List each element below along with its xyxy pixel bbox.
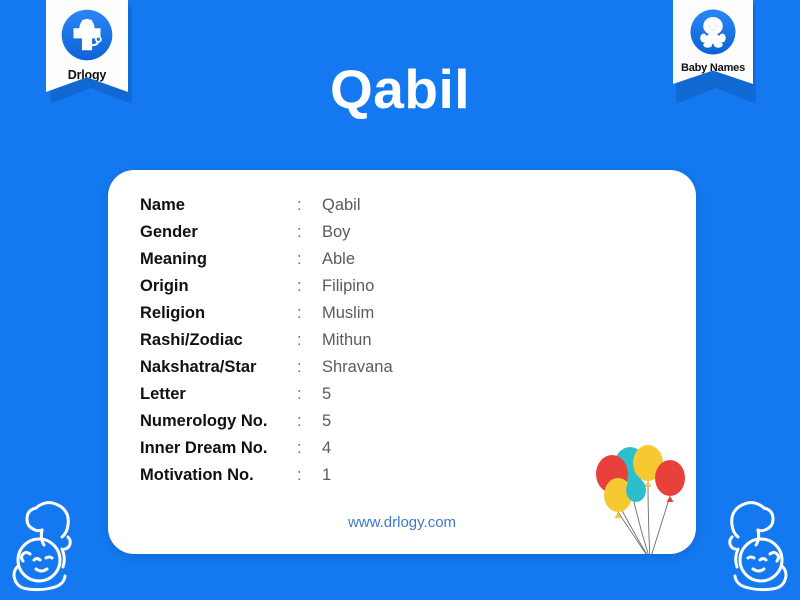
row-value: Boy <box>322 219 393 246</box>
table-row: Origin : Filipino <box>140 273 393 300</box>
poster-canvas: Drlogy <box>0 0 800 600</box>
row-colon: : <box>297 462 322 489</box>
row-colon: : <box>297 219 322 246</box>
page-title: Qabil <box>0 62 800 117</box>
drlogy-medical-cross-logo-icon <box>60 8 114 62</box>
row-colon: : <box>297 273 322 300</box>
row-label: Religion <box>140 300 297 327</box>
mother-and-baby-icon <box>698 488 794 592</box>
row-label: Meaning <box>140 246 297 273</box>
row-value: Qabil <box>322 192 393 219</box>
row-label: Numerology No. <box>140 408 297 435</box>
table-row: Letter : 5 <box>140 381 393 408</box>
row-colon: : <box>297 192 322 219</box>
row-value: Shravana <box>322 354 393 381</box>
row-value: Mithun <box>322 327 393 354</box>
row-label: Rashi/Zodiac <box>140 327 297 354</box>
row-value: 4 <box>322 435 393 462</box>
row-label: Origin <box>140 273 297 300</box>
row-label: Name <box>140 192 297 219</box>
table-row: Meaning : Able <box>140 246 393 273</box>
table-row: Gender : Boy <box>140 219 393 246</box>
balloons-icon <box>588 440 696 554</box>
row-value: 5 <box>322 381 393 408</box>
row-label: Nakshatra/Star <box>140 354 297 381</box>
row-colon: : <box>297 300 322 327</box>
row-colon: : <box>297 246 322 273</box>
table-row: Religion : Muslim <box>140 300 393 327</box>
table-row: Name : Qabil <box>140 192 393 219</box>
row-colon: : <box>297 408 322 435</box>
row-value: Able <box>322 246 393 273</box>
row-colon: : <box>297 327 322 354</box>
name-details-table: Name : Qabil Gender : Boy Meaning : Able… <box>140 192 393 489</box>
table-row: Numerology No. : 5 <box>140 408 393 435</box>
table-row: Rashi/Zodiac : Mithun <box>140 327 393 354</box>
table-row: Motivation No. : 1 <box>140 462 393 489</box>
mother-and-baby-icon <box>6 488 102 592</box>
table-row: Inner Dream No. : 4 <box>140 435 393 462</box>
name-details-card: Name : Qabil Gender : Boy Meaning : Able… <box>108 170 696 554</box>
website-url[interactable]: www.drlogy.com <box>108 514 696 531</box>
row-label: Gender <box>140 219 297 246</box>
row-value: 1 <box>322 462 393 489</box>
row-label: Motivation No. <box>140 462 297 489</box>
row-value: Filipino <box>322 273 393 300</box>
row-value: 5 <box>322 408 393 435</box>
row-colon: : <box>297 354 322 381</box>
row-colon: : <box>297 381 322 408</box>
row-colon: : <box>297 435 322 462</box>
table-row: Nakshatra/Star : Shravana <box>140 354 393 381</box>
table-body: Name : Qabil Gender : Boy Meaning : Able… <box>140 192 393 489</box>
row-value: Muslim <box>322 300 393 327</box>
baby-sitting-icon <box>689 8 737 56</box>
row-label: Inner Dream No. <box>140 435 297 462</box>
row-label: Letter <box>140 381 297 408</box>
